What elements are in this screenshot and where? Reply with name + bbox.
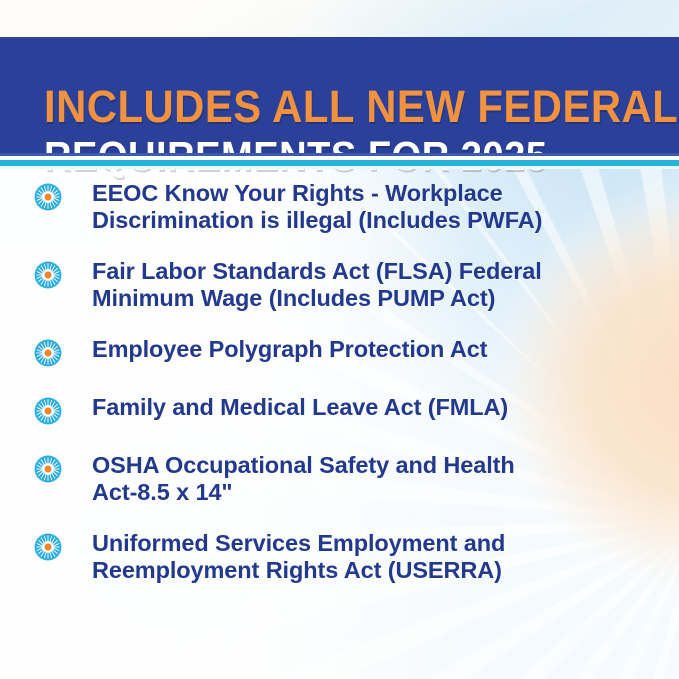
list-item: Employee Polygraph Protection Act	[0, 336, 679, 370]
sunburst-icon	[34, 455, 62, 483]
requirement-text: Employee Polygraph Protection Act	[92, 336, 659, 363]
list-item: Family and Medical Leave Act (FMLA)	[0, 394, 679, 428]
list-item: Uniformed Services Employment and Reempl…	[0, 530, 679, 584]
sunburst-icon	[34, 397, 62, 425]
sunburst-icon	[34, 261, 62, 289]
header-banner: INCLUDES ALL NEW FEDERAL REQUIREMENTS FO…	[0, 37, 679, 153]
requirement-text: Uniformed Services Employment and Reempl…	[92, 530, 659, 584]
requirement-text: EEOC Know Your Rights - Workplace Discri…	[92, 180, 659, 234]
sunburst-icon	[34, 339, 62, 367]
sunburst-icon	[34, 183, 62, 211]
list-item: Fair Labor Standards Act (FLSA) Federal …	[0, 258, 679, 312]
poster-root: INCLUDES ALL NEW FEDERAL REQUIREMENTS FO…	[0, 0, 679, 679]
sunburst-icon	[34, 533, 62, 561]
list-item: OSHA Occupational Safety and Health Act-…	[0, 452, 679, 506]
requirement-text: Family and Medical Leave Act (FMLA)	[92, 394, 659, 421]
header-title-line-1: INCLUDES ALL NEW FEDERAL	[44, 84, 678, 129]
list-item: EEOC Know Your Rights - Workplace Discri…	[0, 180, 679, 234]
requirements-list: EEOC Know Your Rights - Workplace Discri…	[0, 180, 679, 608]
requirement-text: Fair Labor Standards Act (FLSA) Federal …	[92, 258, 659, 312]
divider-pale-blue	[0, 166, 679, 169]
requirement-text: OSHA Occupational Safety and Health Act-…	[92, 452, 659, 506]
